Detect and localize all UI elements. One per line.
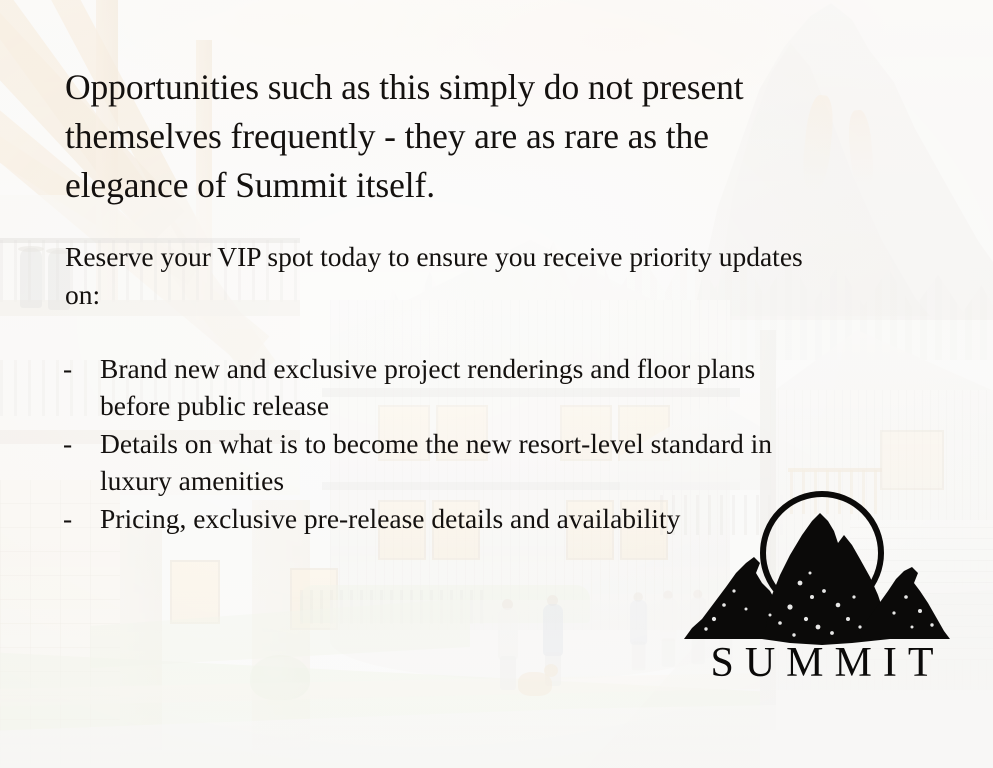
list-item-text: Brand new and exclusive project renderin… <box>100 353 755 421</box>
marketing-slide: Opportunities such as this simply do not… <box>0 0 993 768</box>
bullet-marker: - <box>63 350 72 387</box>
list-item: - Brand new and exclusive project render… <box>63 350 823 424</box>
list-item-text: Pricing, exclusive pre-release details a… <box>100 503 680 534</box>
mountain-peaks-in-circle-icon <box>662 487 982 647</box>
summit-wordmark: SUMMIT <box>662 640 982 686</box>
bullet-marker: - <box>63 425 72 462</box>
headline: Opportunities such as this simply do not… <box>65 63 825 210</box>
slide-content: Opportunities such as this simply do not… <box>0 0 993 768</box>
list-item-text: Details on what is to become the new res… <box>100 428 772 496</box>
subheadline: Reserve your VIP spot today to ensure yo… <box>65 238 825 314</box>
bullet-marker: - <box>63 500 72 537</box>
summit-logo: SUMMIT <box>662 487 982 712</box>
